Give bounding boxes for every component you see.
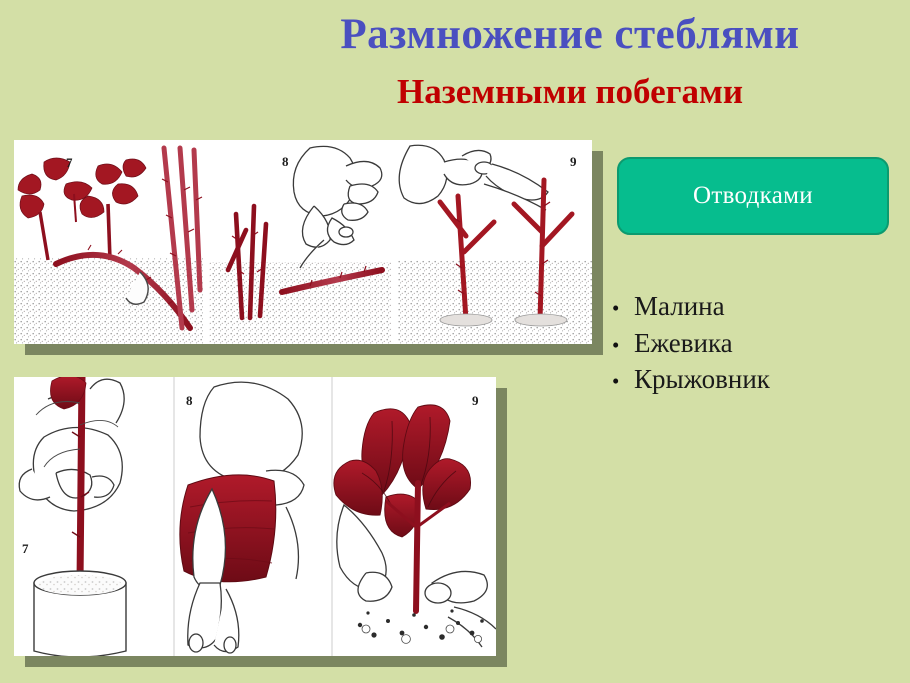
slide-root: Размножение стеблями Наземными побегами …	[0, 0, 910, 683]
panel-number: 9	[472, 393, 479, 408]
panel-number: 9	[570, 154, 577, 169]
bullet-marker-icon: •	[612, 371, 634, 392]
panel-number: 7	[22, 541, 29, 556]
page-title: Размножение стеблями	[240, 12, 900, 57]
bullet-marker-icon: •	[612, 335, 634, 356]
illustration-cuttings: 7	[14, 377, 496, 656]
list-item: • Крыжовник	[612, 361, 770, 398]
illustration-layering-svg: 7	[14, 140, 592, 344]
illustration-layering: 7	[14, 140, 592, 344]
callout-otvodkami[interactable]: Отводками	[617, 157, 889, 235]
list-item-label: Ежевика	[634, 325, 733, 362]
panel-divider	[203, 140, 209, 344]
panel-number: 7	[66, 155, 73, 170]
list-item-label: Малина	[634, 288, 725, 325]
callout-label: Отводками	[693, 182, 813, 210]
list-item-label: Крыжовник	[634, 361, 770, 398]
bullet-marker-icon: •	[612, 298, 634, 319]
illustration-cuttings-svg: 7	[14, 377, 496, 656]
panel-number: 8	[282, 154, 289, 169]
page-subtitle: Наземными побегами	[240, 74, 900, 111]
list-item: • Ежевика	[612, 325, 770, 362]
plant-list: • Малина • Ежевика • Крыжовник	[612, 288, 770, 398]
panel-number: 8	[186, 393, 193, 408]
panel-divider	[392, 140, 398, 344]
list-item: • Малина	[612, 288, 770, 325]
